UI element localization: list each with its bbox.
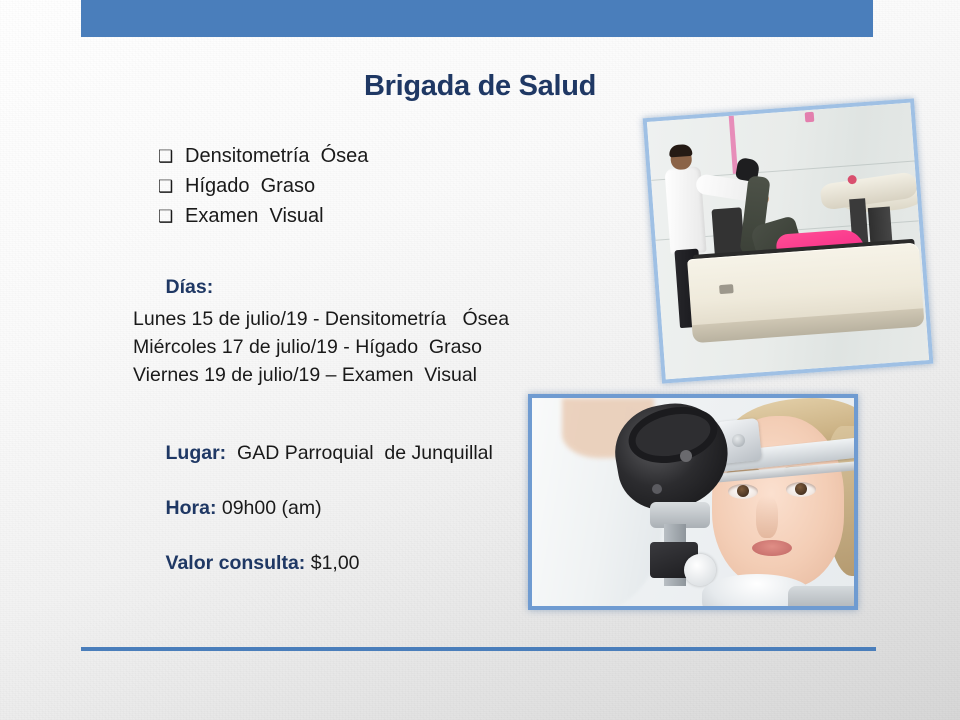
schedule-line: Viernes 19 de julio/19 – Examen Visual bbox=[133, 364, 603, 392]
venue-label: Lugar: bbox=[166, 442, 227, 464]
chin-rest-support bbox=[788, 586, 854, 606]
schedule-line: Lunes 15 de julio/19 - Densitometría Óse… bbox=[133, 308, 603, 336]
page-title: Brigada de Salud bbox=[0, 70, 960, 103]
square-bullet-icon: ❑ bbox=[158, 208, 185, 225]
schedule-heading: Días: bbox=[133, 253, 603, 281]
list-item-label: Examen Visual bbox=[185, 205, 324, 228]
phoropter-adjust-screw bbox=[732, 434, 745, 447]
schedule-label: Días: bbox=[166, 276, 214, 298]
price-label: Valor consulta: bbox=[166, 552, 306, 574]
services-list: ❑ Densitometría Ósea ❑ Hígado Graso ❑ Ex… bbox=[158, 145, 578, 235]
top-accent-bar bbox=[81, 0, 873, 37]
patient-iris-left bbox=[737, 485, 749, 497]
price-value: $1,00 bbox=[305, 552, 359, 574]
patient-nose bbox=[756, 496, 778, 538]
slide-canvas: Brigada de Salud ❑ Densitometría Ósea ❑ … bbox=[0, 0, 960, 720]
scan-bed-control-knob bbox=[719, 284, 734, 294]
schedule-line: Miércoles 17 de julio/19 - Hígado Graso bbox=[133, 336, 603, 364]
doctor-hair bbox=[669, 144, 693, 158]
venue-value: GAD Parroquial de Junquillal bbox=[226, 442, 493, 464]
eye-exam-photo bbox=[528, 394, 858, 610]
eye-exam-photo-content bbox=[532, 398, 854, 606]
bone-densitometry-photo bbox=[643, 98, 934, 383]
square-bullet-icon: ❑ bbox=[158, 148, 185, 165]
slit-lamp-knob-secondary bbox=[652, 484, 662, 494]
slit-lamp-knob bbox=[680, 450, 692, 462]
list-item-label: Densitometría Ósea bbox=[185, 145, 368, 168]
patient-iris-right bbox=[795, 483, 807, 495]
time-label: Hora: bbox=[166, 497, 217, 519]
pink-wall-marker bbox=[805, 112, 815, 123]
list-item-label: Hígado Graso bbox=[185, 175, 315, 198]
instrument-white-lens bbox=[684, 554, 716, 586]
list-item: ❑ Hígado Graso bbox=[158, 175, 578, 205]
list-item: ❑ Examen Visual bbox=[158, 205, 578, 235]
bone-densitometry-photo-content bbox=[647, 103, 929, 380]
patient-lips bbox=[752, 540, 792, 556]
square-bullet-icon: ❑ bbox=[158, 178, 185, 195]
list-item: ❑ Densitometría Ósea bbox=[158, 145, 578, 175]
bottom-divider-rule bbox=[81, 647, 876, 651]
time-value: 09h00 (am) bbox=[216, 497, 321, 519]
